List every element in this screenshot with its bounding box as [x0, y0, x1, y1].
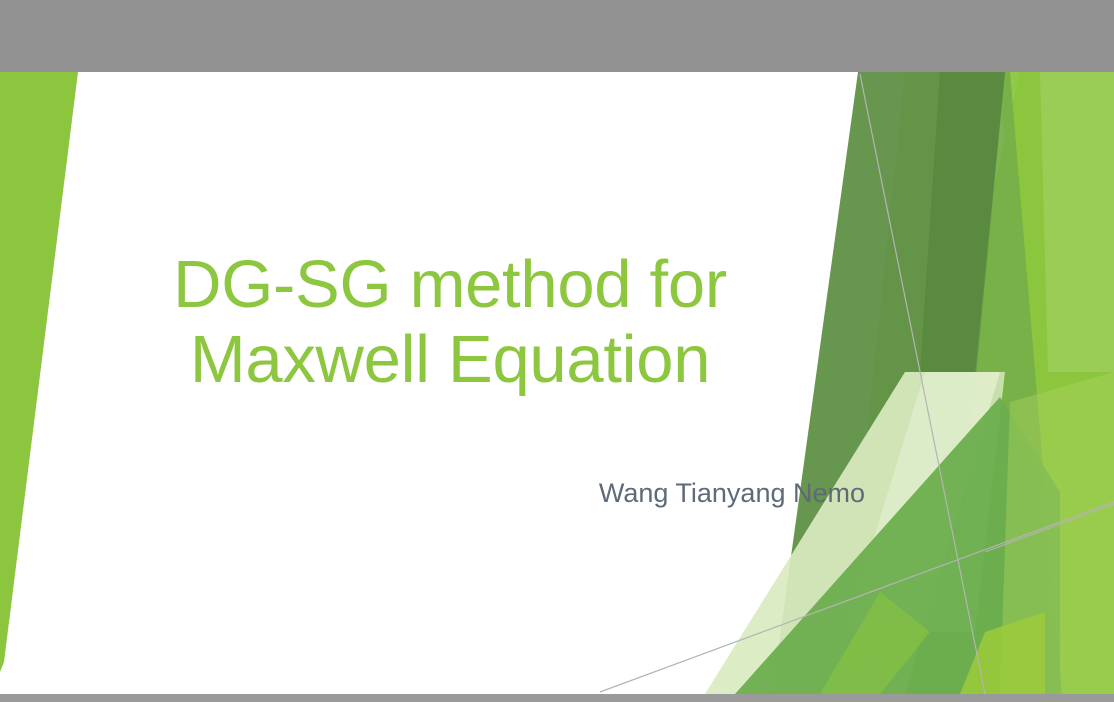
left-green-wedge [0, 72, 78, 672]
facet-translucent-sheet-upper [1040, 72, 1114, 372]
slide-content-area: DG-SG method for Maxwell Equation Wang T… [0, 72, 1114, 694]
subtitle-block: Wang Tianyang Nemo [300, 477, 865, 509]
slide-canvas: DG-SG method for Maxwell Equation Wang T… [0, 0, 1114, 702]
author-name: Wang Tianyang Nemo [300, 477, 865, 509]
bottom-gray-bar [0, 694, 1114, 702]
top-gray-bar [0, 0, 1114, 72]
page-title: DG-SG method for Maxwell Equation [110, 247, 790, 397]
title-block: DG-SG method for Maxwell Equation [110, 247, 790, 397]
